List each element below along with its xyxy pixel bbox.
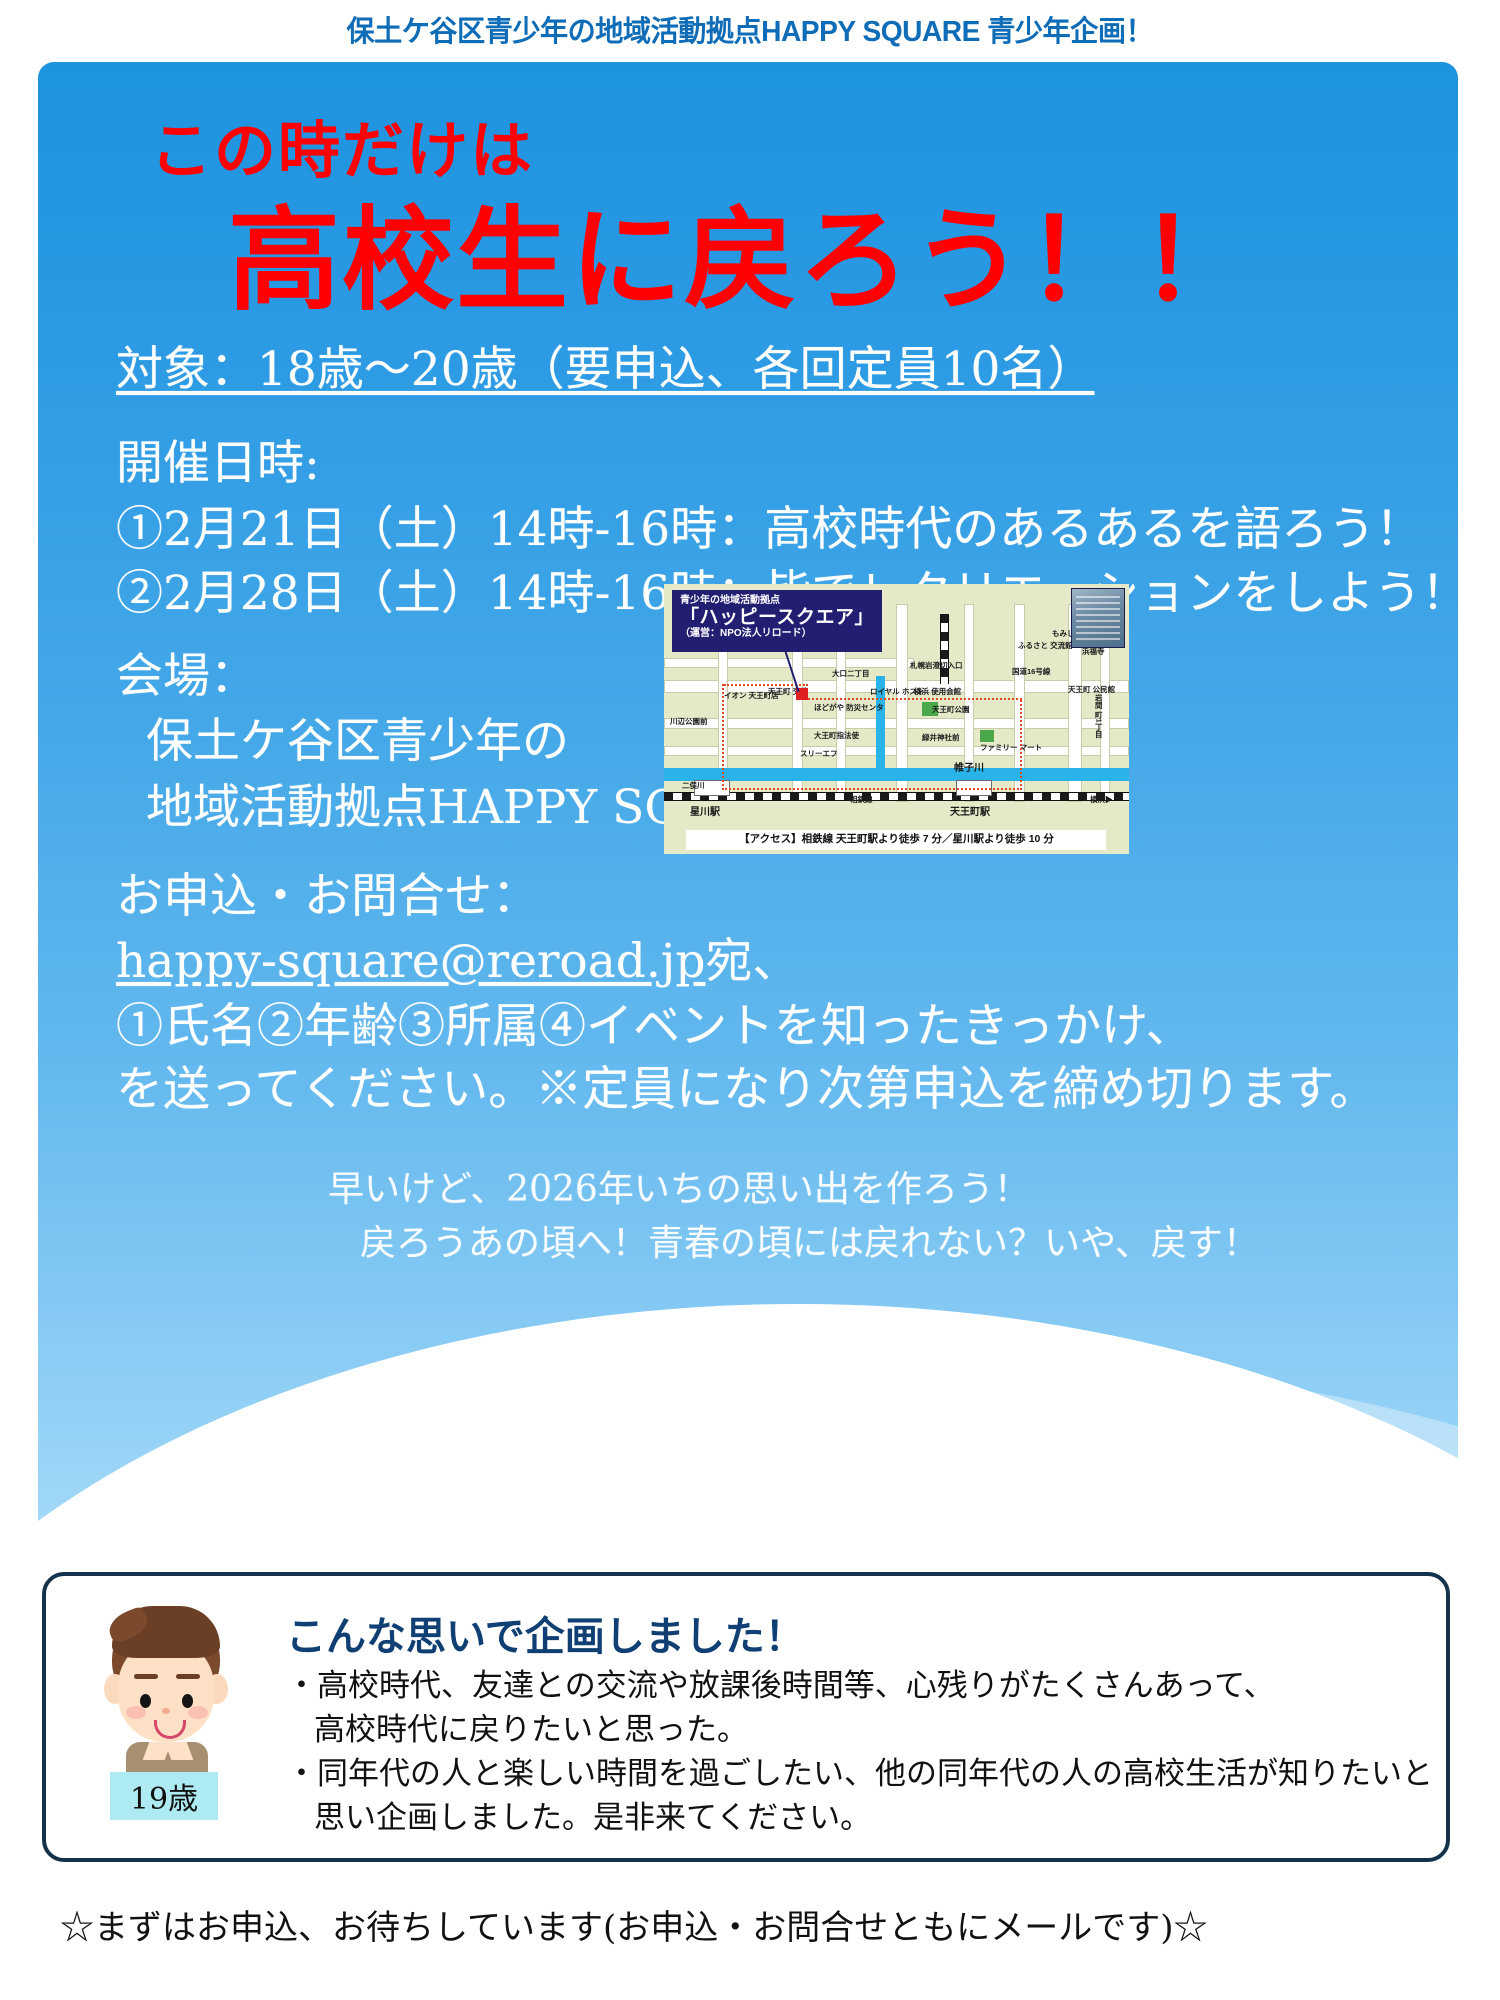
building-photo [1071, 588, 1125, 648]
map-railway [664, 792, 1129, 801]
flyer-page: 保土ケ谷区青少年の地域活動拠点HAPPY SQUARE 青少年企画！ この時だけ… [0, 0, 1500, 2000]
map-label-familymart: ファミリー マート [980, 744, 1042, 752]
avatar-cheek-left [126, 1706, 146, 1719]
contact-label: お申込・お問合せ： [116, 857, 539, 926]
access-map: 大口二丁目 札幌岩澄切入口 国道16号線 浜福寺 イオン 天王町店 川辺公園前 … [664, 584, 1129, 854]
email-suffix: 宛、 [705, 934, 799, 989]
avatar-eye-right [182, 1694, 193, 1708]
map-label-royalhost: ロイヤル ホスト [870, 688, 924, 696]
decorative-swoosh [38, 1304, 1458, 1564]
map-label-sotetsu: 相鉄線 [850, 796, 873, 804]
map-label-kouminkan: 天王町 公民館 [1068, 686, 1115, 694]
apply-instruction-1: ①氏名②年齢③所属④イベントを知ったきっかけ、 [116, 987, 1193, 1056]
map-label-threef: スリーエフ [800, 750, 838, 758]
map-park-2 [980, 730, 994, 742]
map-label-yokohama: 横浜▶ [1090, 796, 1113, 804]
avatar-cheek-right [188, 1706, 208, 1719]
map-access-text: 【アクセス】相鉄線 天王町駅より徒歩 7 分／星川駅より徒歩 10 分 [664, 831, 1129, 846]
hero-headline: 高校生に戻ろう！！ [228, 170, 1254, 332]
contact-email-line: happy-square@reroad.jp宛、 [116, 922, 799, 991]
map-label-hamafukuji: 浜福寺 [1082, 648, 1105, 656]
comment-title: こんな思いで企画しました！ [286, 1604, 805, 1662]
map-label-futamatagawa: 二俣川 [682, 782, 705, 790]
comment-line-4: 思い企画しました。是非来てください。 [314, 1792, 871, 1837]
venue-label: 会場： [116, 637, 257, 706]
avatar-eyebrow-left [134, 1674, 158, 1679]
comment-line-3: ・同年代の人と楽しい時間を過ごしたい、他の同年代の人の高校生活が知りたいと [286, 1748, 1433, 1793]
map-railway-vertical [940, 614, 949, 684]
map-label-daiocho: 大王町指法使 [814, 732, 859, 740]
map-label-hoshikawa-station: 星川駅 [690, 808, 720, 819]
footer-note: ☆まずはお申込、お待ちしています(お申込・お問合せともにメールです)☆ [60, 1900, 1208, 1949]
map-label-bousai-center: ほどがや 防災センタ [814, 704, 884, 712]
map-label-furusato: ふるさと 交流館 [1018, 642, 1073, 650]
header-band: 保土ケ谷区青少年の地域活動拠点HAPPY SQUARE 青少年企画！ [0, 8, 1500, 56]
page-title: 保土ケ谷区青少年の地域活動拠点HAPPY SQUARE 青少年企画！ [347, 8, 1154, 50]
map-label-katabiragawa: 帷子川 [954, 764, 984, 775]
tagline-2: 戻ろうあの頃へ！青春の頃には戻れない？いや、戻す！ [360, 1214, 1259, 1266]
map-callout: 青少年の地域活動拠点 「ハッピースクエア」 （運営：NPO法人リロード） [672, 590, 882, 652]
target-audience-line: 対象：18歳～20歳（要申込、各回定員10名） [116, 330, 1094, 399]
map-label-sapporo: 札幌岩澄切入口 [910, 662, 963, 670]
map-callout-sub: （運営：NPO法人リロード） [680, 628, 874, 640]
map-route-3 [722, 788, 1022, 790]
apply-instruction-2: を送ってください。※定員になり次第申込を締め切ります。 [116, 1050, 1377, 1119]
map-route-2 [722, 684, 724, 790]
map-label-tennocho-station: 天王町駅 [950, 808, 990, 819]
date-label: 開催日時: [116, 424, 320, 493]
comment-box: 19歳 こんな思いで企画しました！ ・高校時代、友達との交流や放課後時間等、心残… [42, 1572, 1450, 1862]
email-address[interactable]: happy-square@reroad.jp [116, 934, 705, 989]
tagline-1: 早いけど、2026年いちの思い出を作ろう！ [328, 1160, 1030, 1212]
map-label-shrine: 緑井神社前 [922, 734, 960, 742]
map-label-kawabe: 川辺公園前 [670, 718, 708, 726]
map-label-route16: 国道16号線 [1012, 668, 1050, 676]
map-river [664, 768, 1129, 781]
age-badge: 19歳 [110, 1772, 218, 1820]
comment-line-1: ・高校時代、友達との交流や放課後時間等、心残りがたくさんあって、 [286, 1660, 1275, 1705]
map-label-tennocho-park: 天王町公園 [932, 706, 970, 714]
avatar: 19歳 [96, 1602, 236, 1812]
map-route-4 [1020, 700, 1022, 790]
avatar-eye-left [140, 1694, 151, 1708]
avatar-nose [162, 1708, 170, 1714]
date-item-1: ①2月21日（土）14時-16時：高校時代のあるあるを語ろう！ [116, 490, 1422, 559]
map-callout-small: 青少年の地域活動拠点 [680, 595, 874, 607]
map-label-iwamacho: 岩間 町1丁目 [1094, 694, 1102, 738]
venue-line-1: 保土ケ谷区青少年の [146, 702, 569, 771]
map-callout-big: 「ハッピースクエア」 [680, 607, 874, 628]
avatar-eyebrow-right [176, 1674, 200, 1679]
comment-line-2: 高校時代に戻りたいと思った。 [314, 1704, 748, 1749]
map-label-oguchi: 大口二丁目 [832, 670, 870, 678]
map-route-5 [808, 698, 1022, 700]
